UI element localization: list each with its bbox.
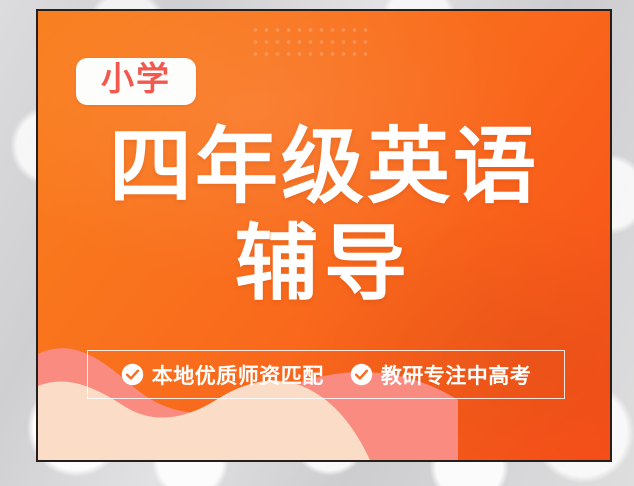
feature-item: 本地优质师资匹配 (121, 360, 324, 390)
headline-line-primary: 四年级英语 (38, 125, 610, 208)
poster-headline: 四年级英语 辅导 (38, 125, 610, 305)
dot-grid-icon (250, 22, 372, 60)
promo-poster-card: 小学 四年级英语 辅导 本地优质师资匹配 教研专注中高考 (36, 9, 612, 462)
grade-level-badge: 小学 (76, 58, 196, 105)
grade-level-badge-label: 小学 (90, 61, 182, 98)
feature-item: 教研专注中高考 (350, 360, 532, 390)
feature-item-label: 本地优质师资匹配 (152, 360, 324, 390)
feature-bar: 本地优质师资匹配 教研专注中高考 (87, 350, 565, 399)
check-circle-icon (121, 363, 144, 386)
headline-line-secondary: 辅导 (38, 222, 610, 305)
feature-item-label: 教研专注中高考 (381, 360, 532, 390)
check-circle-icon (350, 363, 373, 386)
